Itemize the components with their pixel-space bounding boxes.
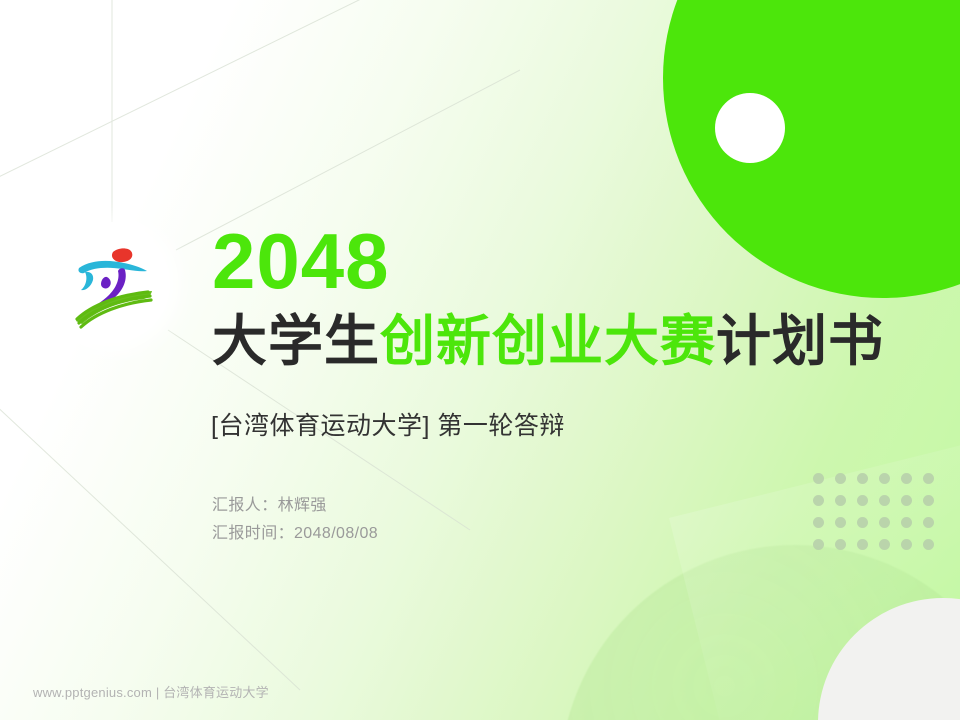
grid-dot <box>901 517 912 528</box>
university-logo <box>52 225 170 343</box>
title-lead: 大学生 <box>212 310 380 372</box>
page-title: 大学生创新创业大赛计划书 <box>212 312 884 371</box>
grid-dot <box>923 495 934 506</box>
grid-dot <box>923 539 934 550</box>
grid-dot <box>857 473 868 484</box>
grid-dot <box>923 473 934 484</box>
grid-dot <box>813 517 824 528</box>
grid-dot <box>879 473 890 484</box>
grid-dot <box>879 495 890 506</box>
grid-dot <box>901 473 912 484</box>
title-highlight: 创新创业大赛 <box>380 310 716 372</box>
slide-footer: www.pptgenius.com | 台湾体育运动大学 <box>33 682 269 701</box>
grid-dot <box>835 495 846 506</box>
slide-year: 2048 <box>212 222 390 300</box>
grid-dot <box>813 495 824 506</box>
presenter-meta: 汇报人：林辉强 汇报时间：2048/08/08 <box>212 492 378 547</box>
title-tail: 计划书 <box>716 310 884 372</box>
presenter-name-line: 汇报人：林辉强 <box>212 492 378 520</box>
grid-dot <box>835 539 846 550</box>
grid-dot <box>813 473 824 484</box>
grid-dot <box>901 539 912 550</box>
grid-dot <box>923 517 934 528</box>
grid-dot <box>901 495 912 506</box>
presentation-date-line: 汇报时间：2048/08/08 <box>212 520 378 548</box>
grid-dot <box>857 539 868 550</box>
grid-dot <box>813 539 824 550</box>
logo-curve-accent <box>101 277 111 289</box>
decor-dot-grid <box>813 473 945 561</box>
decor-circle-white-small <box>715 93 785 163</box>
grid-dot <box>879 517 890 528</box>
grid-dot <box>835 473 846 484</box>
presentation-slide: 2048 大学生创新创业大赛计划书 [台湾体育运动大学] 第一轮答辩 汇报人：林… <box>0 0 960 720</box>
grid-dot <box>879 539 890 550</box>
grid-dot <box>835 517 846 528</box>
grid-dot <box>857 495 868 506</box>
logo-swoosh-shape <box>78 261 147 273</box>
grid-dot <box>857 517 868 528</box>
slide-subtitle: [台湾体育运动大学] 第一轮答辩 <box>211 406 565 442</box>
logo-flame-shape <box>112 248 132 262</box>
logo-swoosh-tail <box>81 272 93 290</box>
